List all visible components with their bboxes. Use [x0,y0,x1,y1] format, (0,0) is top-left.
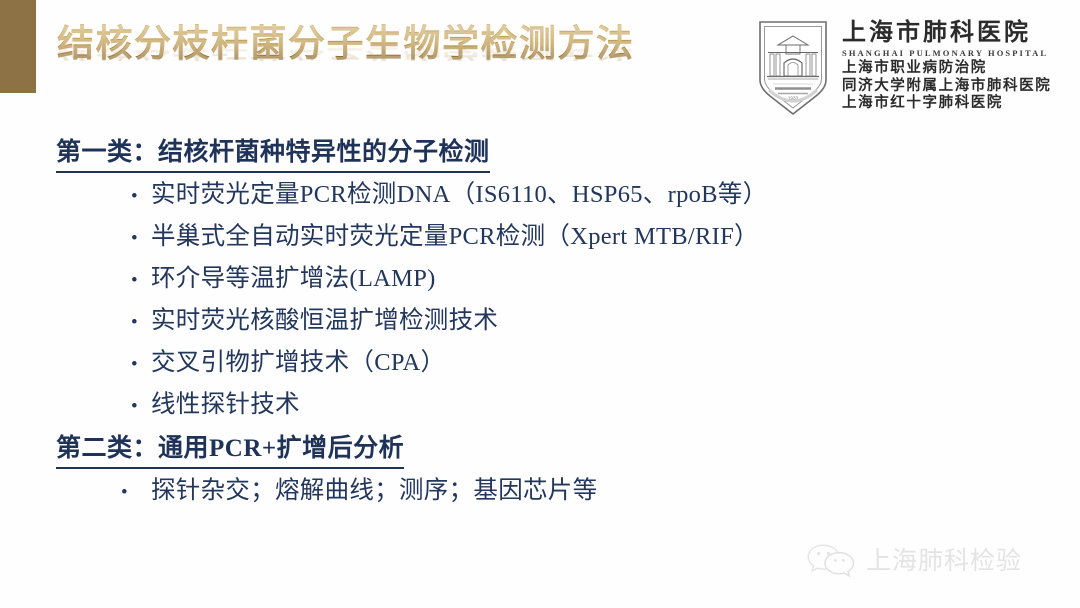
bullet-dot-icon: • [131,306,151,340]
wechat-icon [806,543,856,579]
list-item-label: 线性探针技术 [151,388,300,422]
list-item: • 实时荧光定量PCR检测DNA（IS6110、HSP65、rpoB等） [131,178,1080,220]
section-2-heading-row: 第二类：通用PCR+扩增后分析 [0,432,1080,474]
bullet-dot-icon: • [131,348,151,382]
list-item-label: 交叉引物扩增技术（CPA） [151,346,445,380]
hospital-name-cn: 上海市肺科医院 [842,20,1051,47]
bullet-dot-icon: • [131,180,151,214]
list-item-label: 实时荧光核酸恒温扩增检测技术 [151,304,498,338]
list-item: • 环介导等温扩增法(LAMP) [131,262,1080,304]
slide-title-block: 结核分枝杆菌分子生物学检测方法 结核分枝杆菌分子生物学检测方法 [57,20,697,120]
section-1-heading-row: 第一类：结核杆菌种特异性的分子检测 [0,136,1080,178]
watermark-label: 上海肺科检验 [866,546,1022,576]
accent-bar-left [0,0,36,93]
hospital-affiliation-1: 上海市职业病防治院 [842,60,1051,78]
section-heading-second-category: 第二类：通用PCR+扩增后分析 [56,432,404,469]
section-heading-first-category: 第一类：结核杆菌种特异性的分子检测 [56,136,490,173]
page-title-reflection: 结核分枝杆菌分子生物学检测方法 [57,33,697,64]
list-item: • 半巢式全自动实时荧光定量PCR检测（Xpert MTB/RIF） [131,220,1080,262]
slide-canvas: 结核分枝杆菌分子生物学检测方法 结核分枝杆菌分子生物学检测方法 [0,0,1080,608]
hospital-name-en: SHANGHAI PULMONARY HOSPITAL [842,47,1051,60]
hospital-logo: 1933 上海市肺科医院 SHANGHAI PULMONARY HOSPITAL… [756,18,1072,130]
hospital-logo-text: 上海市肺科医院 SHANGHAI PULMONARY HOSPITAL 上海市职… [842,18,1051,113]
list-item: • 实时荧光核酸恒温扩增检测技术 [131,304,1080,346]
hospital-shield-emblem-icon: 1933 [756,18,830,118]
list-item: • 线性探针技术 [131,388,1080,430]
list-item: • 探针杂交；熔解曲线；测序；基因芯片等 [121,474,1080,516]
bullet-dot-icon: • [131,222,151,256]
slide-body: 第一类：结核杆菌种特异性的分子检测 • 实时荧光定量PCR检测DNA（IS611… [0,136,1080,516]
bullet-dot-icon: • [131,390,151,424]
wechat-watermark: 上海肺科检验 [806,543,1022,579]
list-item-label: 半巢式全自动实时荧光定量PCR检测（Xpert MTB/RIF） [151,220,759,254]
list-item-label: 环介导等温扩增法(LAMP) [151,262,436,296]
hospital-affiliation-2: 同济大学附属上海市肺科医院 [842,78,1051,96]
list-item-label: 实时荧光定量PCR检测DNA（IS6110、HSP65、rpoB等） [151,178,767,212]
bullet-dot-icon: • [131,264,151,298]
list-item-label: 探针杂交；熔解曲线；测序；基因芯片等 [151,474,597,508]
hospital-affiliation-3: 上海市红十字肺科医院 [842,95,1051,113]
bullet-dot-icon: • [121,476,151,510]
list-item: • 交叉引物扩增技术（CPA） [131,346,1080,388]
